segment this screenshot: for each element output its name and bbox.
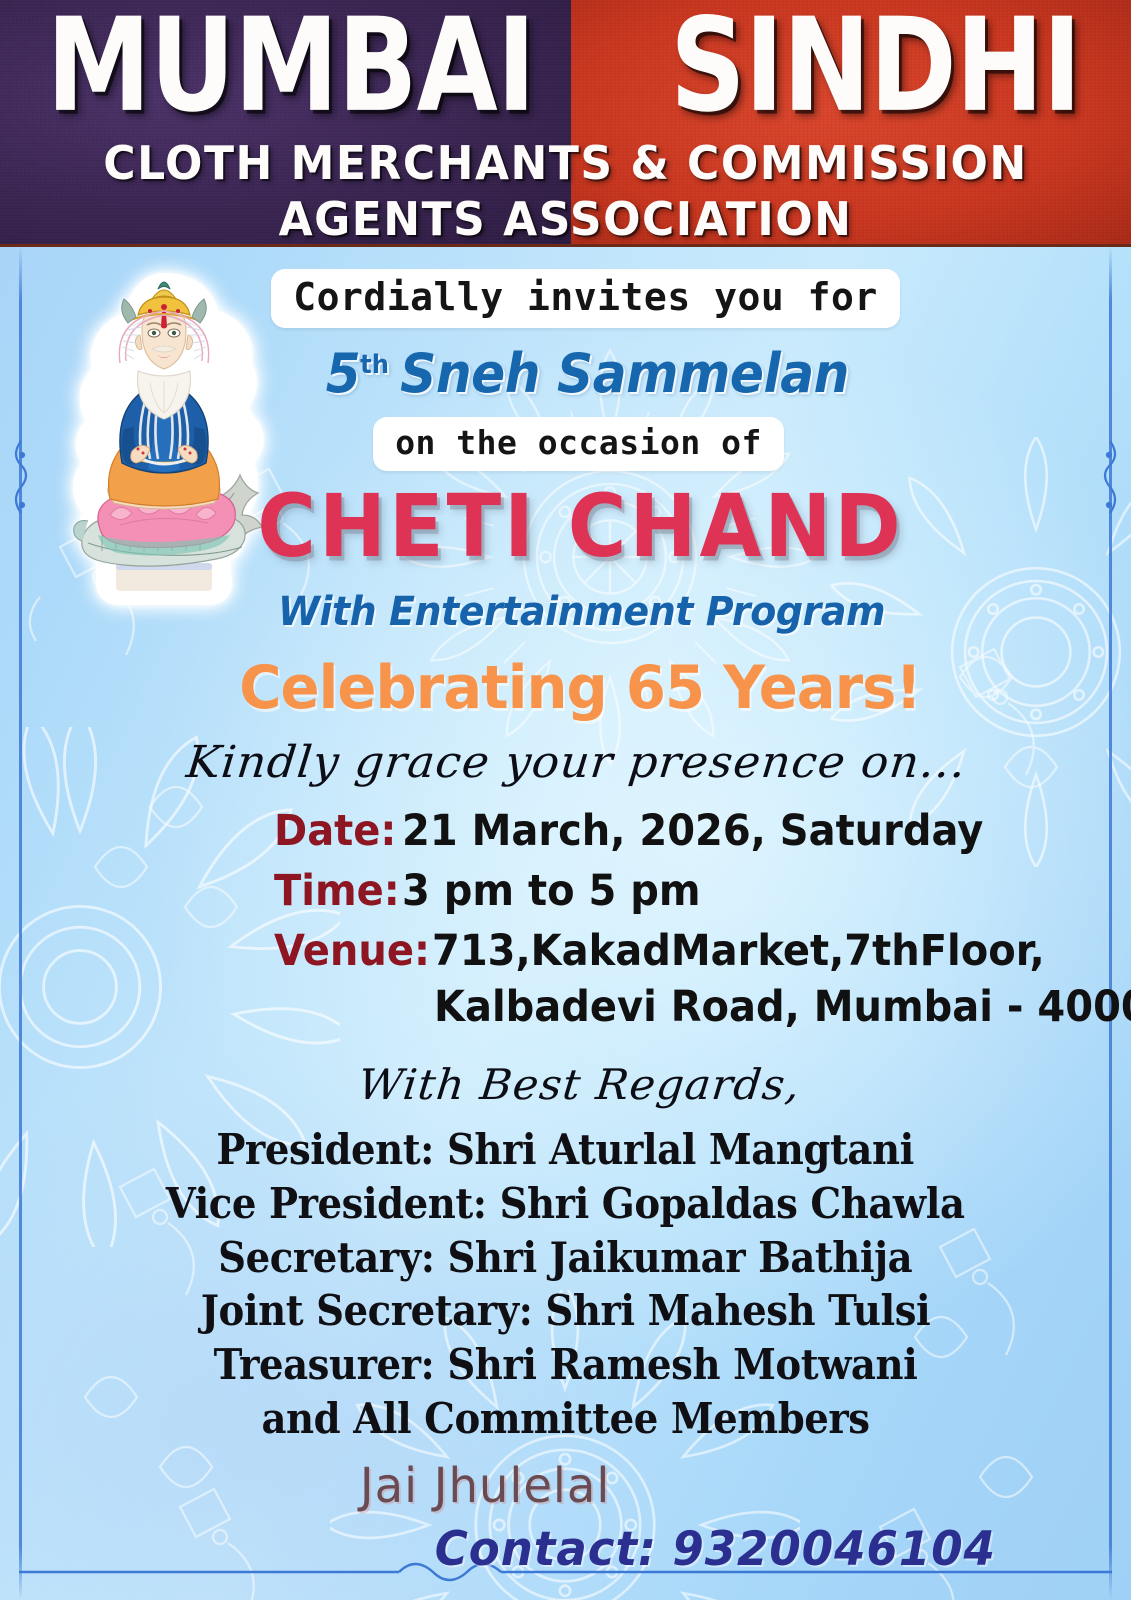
- committee-members-list: President: Shri Aturlal MangtaniVice Pre…: [131, 1123, 999, 1446]
- festival-title: CHETI CHAND: [257, 484, 903, 570]
- venue-line-1-part-1: Kakad: [530, 926, 670, 976]
- contact-number[interactable]: 9320046104: [673, 1522, 997, 1577]
- venue-line-1-part-0: 713,: [432, 926, 531, 976]
- contact-label: Contact:: [435, 1522, 657, 1577]
- detail-row-date: Date: 21 March, 2026, Saturday: [274, 806, 966, 856]
- cordially-invites-text: Cordially invites you for: [271, 269, 899, 328]
- committee-member-row: President: Shri Aturlal Mangtani: [217, 1123, 914, 1177]
- event-ordinal-suffix: th: [360, 350, 389, 380]
- with-best-regards-text: With Best Regards,: [356, 1060, 803, 1109]
- detail-row-venue: Venue: 713,KakadMarket,7thFloor, Kalbade…: [274, 926, 966, 1032]
- invitation-card: MUMBAI SINDHI CLOTH MERCHANTS & COMMISSI…: [0, 0, 1131, 1600]
- committee-member-row: Secretary: Shri Jaikumar Bathija: [218, 1231, 912, 1285]
- committee-member-row: Treasurer: Shri Ramesh Motwani: [214, 1338, 918, 1392]
- contact-info[interactable]: Contact:9320046104: [435, 1522, 996, 1577]
- committee-member-row: Joint Secretary: Shri Mahesh Tulsi: [201, 1284, 931, 1338]
- banner-word-mumbai: MUMBAI: [46, 1, 534, 130]
- event-title: 5thSneh Sammelan: [326, 342, 849, 405]
- date-value: 21 March, 2026, Saturday: [402, 806, 983, 856]
- venue-line-1-part-3: 7th: [844, 926, 919, 976]
- invitation-body: Cordially invites you for 5thSneh Sammel…: [0, 247, 1131, 1600]
- committee-member-row: Vice President: Shri Gopaldas Chawla: [166, 1177, 965, 1231]
- event-details-block: Date: 21 March, 2026, Saturday Time: 3 p…: [106, 806, 1026, 1042]
- venue-line-1-part-4: Floor,: [919, 926, 1044, 976]
- event-name: Sneh Sammelan: [400, 342, 849, 405]
- banner-word-sindhi: SINDHI: [670, 1, 1080, 130]
- venue-value: 713,KakadMarket,7thFloor, Kalbadevi Road…: [432, 926, 966, 1032]
- time-label: Time:: [274, 866, 393, 916]
- banner-text-group: MUMBAI SINDHI CLOTH MERCHANTS & COMMISSI…: [0, 0, 1131, 244]
- venue-line-2: Kalbadevi Road, Mumbai - 400002: [434, 982, 929, 1032]
- entertainment-subtitle: With Entertainment Program: [278, 589, 885, 635]
- celebrating-years-text: Celebrating 65 Years!: [239, 653, 921, 723]
- detail-row-time: Time: 3 pm to 5 pm: [274, 866, 966, 916]
- kindly-grace-text: Kindly grace your presence on...: [184, 737, 969, 788]
- date-label: Date:: [274, 806, 393, 856]
- jai-jhulelal-greeting: Jai Jhulelal: [360, 1458, 610, 1514]
- banner-subtitle-line-2: AGENTS ASSOCIATION: [279, 193, 853, 245]
- committee-member-row: and All Committee Members: [261, 1392, 869, 1446]
- invitation-content: Cordially invites you for 5thSneh Sammel…: [0, 247, 1131, 1577]
- event-ordinal-number: 5: [326, 342, 360, 405]
- banner-subtitle-line-1: CLOTH MERCHANTS & COMMISSION: [103, 138, 1027, 190]
- occasion-text: on the occasion of: [373, 417, 784, 471]
- association-logo-banner: MUMBAI SINDHI CLOTH MERCHANTS & COMMISSI…: [0, 0, 1131, 247]
- venue-line-1-part-2: Market,: [670, 926, 843, 976]
- venue-line-1: 713,KakadMarket,7thFloor,: [432, 926, 929, 976]
- banner-title-row: MUMBAI SINDHI: [0, 8, 1131, 123]
- time-value: 3 pm to 5 pm: [402, 866, 701, 916]
- venue-label: Venue:: [274, 926, 421, 976]
